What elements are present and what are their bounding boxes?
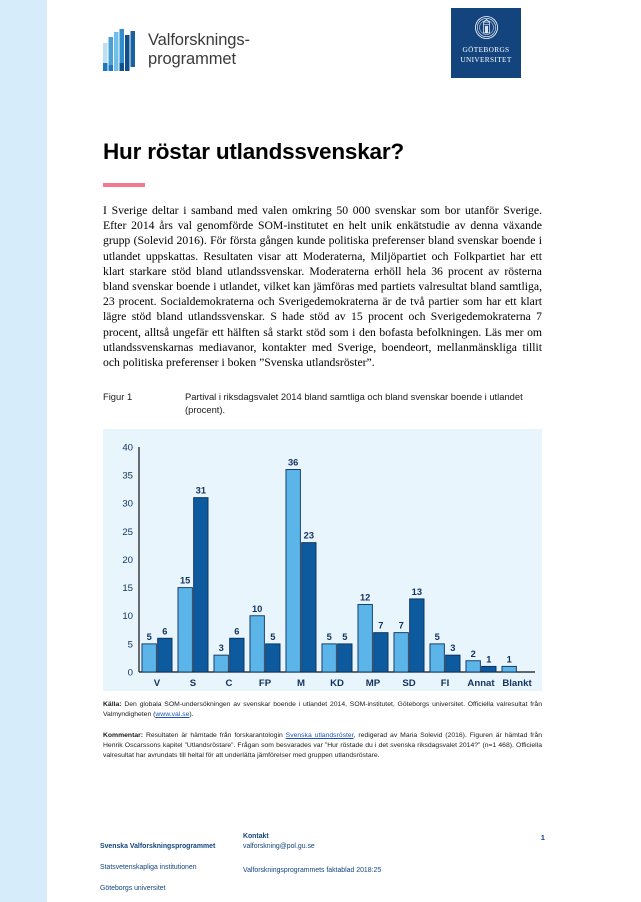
university-name: GÖTEBORGS UNIVERSITET [460, 45, 511, 64]
source-label: Källa: [103, 701, 122, 708]
bar-value-label: 6 [234, 626, 239, 636]
y-axis-tick-label: 0 [128, 667, 133, 678]
chart-bar [194, 498, 208, 672]
bar-value-label: 23 [304, 531, 314, 541]
bar-value-label: 15 [180, 576, 190, 586]
x-axis-category-label: Blankt [502, 678, 532, 689]
chart-bar [502, 666, 516, 672]
valforskningsprogrammet-logo: Valforsknings- programmet [103, 29, 250, 71]
bar-value-label: 5 [435, 632, 440, 642]
val-se-link[interactable]: www.val.se [155, 711, 189, 718]
bar-value-label: 7 [378, 621, 383, 631]
bar-value-label: 1 [507, 654, 512, 664]
chart-bar [358, 604, 372, 672]
bar-value-label: 5 [147, 632, 152, 642]
chart-bar [466, 661, 480, 672]
x-axis-category-label: M [297, 678, 305, 689]
y-axis-tick-label: 5 [128, 639, 133, 650]
figure-caption: Figur 1 Partival i riksdagsvalet 2014 bl… [103, 391, 545, 417]
y-axis-tick-label: 35 [122, 471, 133, 482]
chart-bar [482, 666, 496, 672]
bar-value-label: 3 [450, 643, 455, 653]
y-axis-tick-label: 30 [122, 499, 133, 510]
program-wordmark: Valforsknings- programmet [148, 31, 250, 70]
source-note: Källa: Den globala SOM-undersökningen av… [103, 700, 542, 719]
figure-label: Figur 1 [103, 391, 185, 417]
chart-bar [230, 638, 244, 672]
bar-value-label: 6 [162, 626, 167, 636]
x-axis-category-label: FP [259, 678, 272, 689]
left-decorative-strip [0, 0, 47, 902]
chart-bar [446, 655, 460, 672]
bar-value-label: 5 [327, 632, 332, 642]
bar-value-label: 5 [342, 632, 347, 642]
chart-bar [374, 633, 388, 672]
chart-bar [430, 644, 444, 672]
document-page: Valforsknings- programmet GÖTEBORGS UNIV… [0, 0, 641, 902]
comment-text-1: Resultaten är hämtade från forskarantolo… [143, 732, 286, 739]
bar-value-label: 7 [399, 621, 404, 631]
x-axis-category-label: KD [330, 678, 344, 689]
bar-value-label: 10 [252, 604, 262, 614]
page-footer: Svenska Valforskningsprogrammet Statsvet… [100, 832, 545, 902]
y-axis-tick-label: 25 [122, 527, 133, 538]
y-axis-tick-label: 10 [122, 611, 133, 622]
chart-bar [286, 469, 300, 672]
x-axis-category-label: FI [441, 678, 450, 689]
chart-bar [410, 599, 424, 672]
footer-organization: Svenska Valforskningsprogrammet Statsvet… [100, 832, 243, 902]
footer-org-line3: Göteborgs universitet [100, 884, 243, 894]
y-axis-tick-label: 20 [122, 555, 133, 566]
bar-value-label: 3 [219, 643, 224, 653]
y-axis-tick-label: 15 [122, 583, 133, 594]
x-axis-category-label: S [190, 678, 197, 689]
chart-bar [322, 644, 336, 672]
footer-org-line1: Svenska Valforskningsprogrammet [100, 842, 243, 852]
bar-value-label: 13 [412, 587, 422, 597]
bar-value-label: 2 [471, 649, 476, 659]
page-header: Valforsknings- programmet GÖTEBORGS UNIV… [100, 0, 545, 112]
footer-contact: Kontakt valforskning@pol.gu.se Valforskn… [243, 832, 545, 902]
footer-contact-email[interactable]: valforskning@pol.gu.se [243, 842, 545, 852]
bar-value-label: 36 [288, 457, 298, 467]
svenska-utlandsroster-link[interactable]: Svenska utlandsröster [286, 732, 354, 739]
source-text-end: ). [189, 711, 193, 718]
page-content: Valforsknings- programmet GÖTEBORGS UNIV… [100, 0, 545, 760]
x-axis-category-label: V [154, 678, 161, 689]
title-accent-bar [103, 183, 145, 187]
page-title: Hur röstar utlandssvenskar? [103, 139, 545, 165]
footer-contact-label: Kontakt [243, 832, 545, 842]
bar-value-label: 31 [196, 486, 206, 496]
y-axis-tick-label: 40 [122, 442, 133, 453]
bar-value-label: 12 [360, 592, 370, 602]
footer-org-line2: Statsvetenskapliga institutionen [100, 863, 243, 873]
bar-value-label: 5 [270, 632, 275, 642]
comment-label: Kommentar: [103, 732, 143, 739]
chart-bar [394, 633, 408, 672]
comment-note: Kommentar: Resultaten är hämtade från fo… [103, 731, 542, 760]
chart-bar [214, 655, 228, 672]
chart-bar [178, 588, 192, 672]
x-axis-category-label: SD [402, 678, 415, 689]
chart-bar [250, 616, 264, 672]
footer-publication: Valforskningsprogrammets faktablad 2018:… [243, 866, 545, 876]
figure-caption-text: Partival i riksdagsvalet 2014 bland samt… [185, 391, 545, 417]
bar-chart-logo-icon [103, 29, 137, 71]
page-number: 1 [541, 832, 545, 843]
x-axis-category-label: Annat [467, 678, 495, 689]
x-axis-category-label: C [226, 678, 233, 689]
x-axis-category-label: MP [366, 678, 381, 689]
intro-paragraph: I Sverige deltar i samband med valen omk… [103, 203, 542, 370]
goteborgs-universitet-logo: GÖTEBORGS UNIVERSITET [451, 8, 521, 78]
university-seal-icon [474, 15, 499, 40]
chart-bar [142, 644, 156, 672]
chart-bar [158, 638, 172, 672]
bar-value-label: 1 [486, 654, 491, 664]
bar-chart: 051015202530354056V1531S36C105FP3623M55K… [103, 429, 542, 691]
chart-bar [266, 644, 280, 672]
chart-bar [338, 644, 352, 672]
figure-1-chart: 051015202530354056V1531S36C105FP3623M55K… [103, 429, 542, 691]
chart-bar [302, 543, 316, 672]
